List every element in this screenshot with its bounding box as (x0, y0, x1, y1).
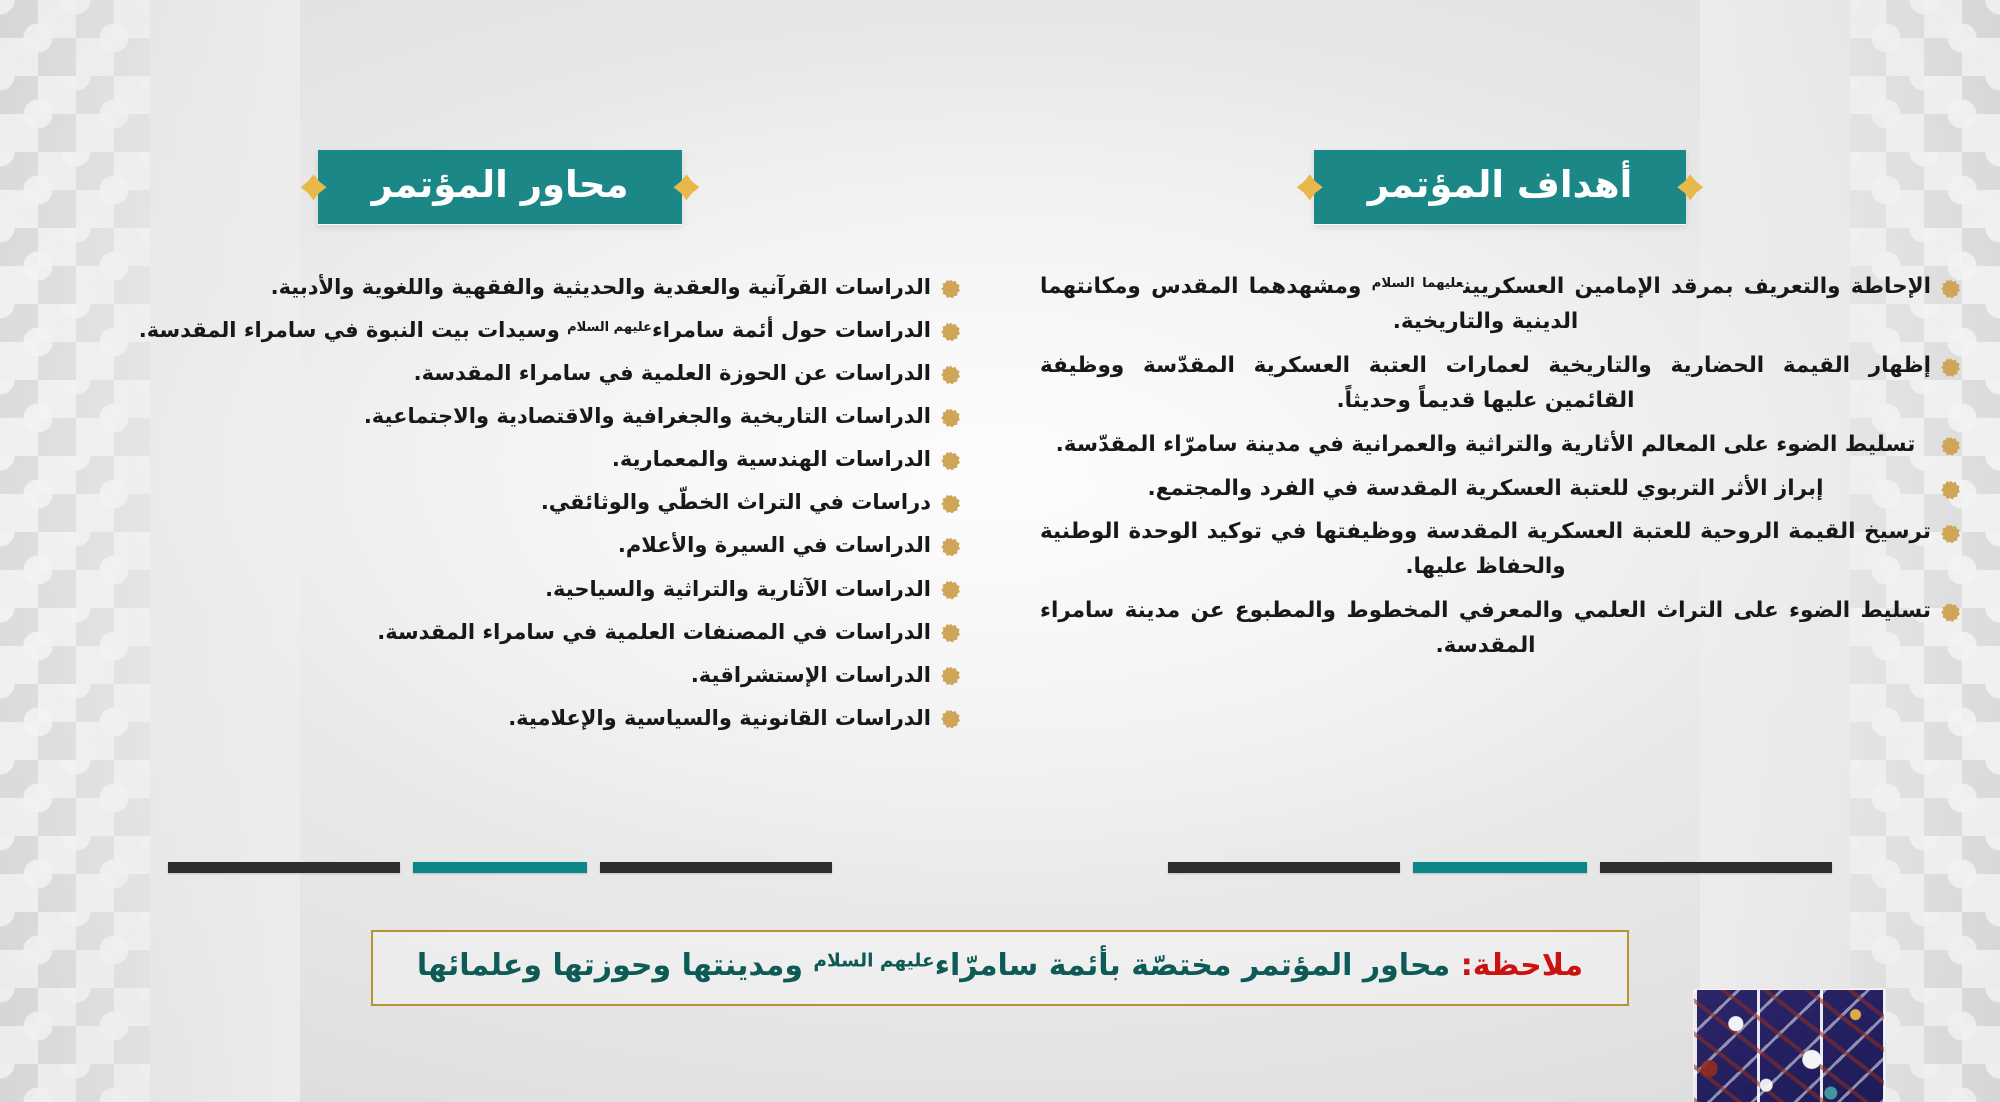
objective-text: إبراز الأثر التربوي للعتبة العسكرية المق… (1040, 472, 1931, 507)
list-item: دراسات في التراث الخطّي والوثائقي. (541, 485, 960, 519)
divider-bar-teal (1413, 862, 1587, 873)
objective-text: تسليط الضوء على المعالم الأثارية والتراث… (1040, 428, 1931, 463)
list-item: الدراسات في السيرة والأعلام. (618, 528, 960, 562)
theme-text: دراسات في التراث الخطّي والوثائقي. (541, 485, 931, 519)
themes-list: الدراسات القرآنية والعقدية والحديثية وال… (40, 270, 960, 743)
rosette-bullet-icon (1941, 437, 1960, 456)
rosette-bullet-icon (941, 322, 960, 341)
list-item: الدراسات في المصنفات العلمية في سامراء ا… (377, 615, 960, 649)
themes-section: محاور المؤتمر الدراسات القرآنية والعقدية… (0, 150, 1000, 850)
divider-bar-dark (600, 862, 832, 873)
objective-text: تسليط الضوء على التراث العلمي والمعرفي ا… (1040, 594, 1931, 664)
rosette-bullet-icon (941, 365, 960, 384)
list-item: تسليط الضوء على التراث العلمي والمعرفي ا… (1040, 594, 1960, 664)
rosette-bullet-icon (941, 624, 960, 643)
rosette-bullet-icon (941, 451, 960, 470)
rosette-bullet-icon (1941, 358, 1960, 377)
rosette-bullet-icon (1941, 603, 1960, 622)
note-box: ملاحظة: محاور المؤتمر مختصّة بأئمة سامرّ… (371, 930, 1629, 1006)
note-label: ملاحظة: (1461, 948, 1583, 983)
divider-bar-dark (168, 862, 400, 873)
objective-text: ترسيخ القيمة الروحية للعتبة العسكرية الم… (1040, 515, 1931, 585)
themes-title: محاور المؤتمر (318, 150, 683, 224)
objectives-section: أهداف المؤتمر الإحاطة والتعريف بمرقد الإ… (1000, 150, 2000, 850)
theme-text: الدراسات في السيرة والأعلام. (618, 528, 931, 562)
list-item: الدراسات الآثارية والتراثية والسياحية. (545, 572, 960, 606)
rosette-bullet-icon (941, 667, 960, 686)
theme-text: الدراسات القانونية والسياسية والإعلامية. (508, 701, 931, 735)
divider-bar-dark (1168, 862, 1400, 873)
theme-text: الدراسات الإستشراقية. (691, 658, 931, 692)
list-item: ترسيخ القيمة الروحية للعتبة العسكرية الم… (1040, 515, 1960, 585)
list-item: الدراسات الإستشراقية. (691, 658, 960, 692)
list-item: الدراسات القانونية والسياسية والإعلامية. (508, 701, 960, 735)
theme-text: الدراسات في المصنفات العلمية في سامراء ا… (377, 615, 931, 649)
list-item: الدراسات التاريخية والجغرافية والاقتصادي… (364, 399, 960, 433)
rosette-bullet-icon (941, 279, 960, 298)
theme-text: الدراسات التاريخية والجغرافية والاقتصادي… (364, 399, 931, 433)
rosette-bullet-icon (941, 494, 960, 513)
themes-divider-group (0, 862, 1000, 886)
theme-text: الدراسات عن الحوزة العلمية في سامراء الم… (414, 356, 931, 390)
theme-text: الدراسات القرآنية والعقدية والحديثية وال… (271, 270, 931, 304)
objectives-list: الإحاطة والتعريف بمرقد الإمامين العسكريي… (1040, 270, 1960, 663)
themes-header: محاور المؤتمر (310, 150, 691, 224)
divider-bars (0, 862, 2000, 886)
rosette-bullet-icon (941, 581, 960, 600)
list-item: الدراسات القرآنية والعقدية والحديثية وال… (271, 270, 960, 304)
rosette-bullet-icon (941, 710, 960, 729)
theme-text: الدراسات الهندسية والمعمارية. (612, 442, 931, 476)
rosette-bullet-icon (1941, 481, 1960, 500)
divider-bar-teal (413, 862, 587, 873)
content-columns: أهداف المؤتمر الإحاطة والتعريف بمرقد الإ… (0, 150, 2000, 850)
rosette-bullet-icon (941, 408, 960, 427)
note-text: محاور المؤتمر مختصّة بأئمة سامرّاءعليهم … (417, 948, 1450, 983)
list-item: إظهار القيمة الحضارية والتاريخية لعمارات… (1040, 349, 1960, 419)
objectives-title: أهداف المؤتمر (1314, 150, 1687, 224)
list-item: الدراسات عن الحوزة العلمية في سامراء الم… (414, 356, 960, 390)
list-item: الدراسات الهندسية والمعمارية. (612, 442, 960, 476)
rosette-bullet-icon (1941, 524, 1960, 543)
islamic-mosaic-tile-decoration (1694, 990, 1884, 1102)
list-item: إبراز الأثر التربوي للعتبة العسكرية المق… (1040, 472, 1960, 507)
objectives-header: أهداف المؤتمر (1306, 150, 1695, 224)
objective-text: إظهار القيمة الحضارية والتاريخية لعمارات… (1040, 349, 1931, 419)
divider-bar-dark (1600, 862, 1832, 873)
rosette-bullet-icon (1941, 279, 1960, 298)
theme-text: الدراسات الآثارية والتراثية والسياحية. (545, 572, 931, 606)
poster-canvas: أهداف المؤتمر الإحاطة والتعريف بمرقد الإ… (0, 0, 2000, 1102)
list-item: تسليط الضوء على المعالم الأثارية والتراث… (1040, 428, 1960, 463)
theme-text: الدراسات حول أئمة سامراءعليهم السلام وسي… (139, 313, 931, 347)
rosette-bullet-icon (941, 537, 960, 556)
list-item: الدراسات حول أئمة سامراءعليهم السلام وسي… (139, 313, 960, 347)
list-item: الإحاطة والتعريف بمرقد الإمامين العسكريي… (1040, 270, 1960, 340)
objective-text: الإحاطة والتعريف بمرقد الإمامين العسكريي… (1040, 270, 1931, 340)
objectives-divider-group (1000, 862, 2000, 886)
